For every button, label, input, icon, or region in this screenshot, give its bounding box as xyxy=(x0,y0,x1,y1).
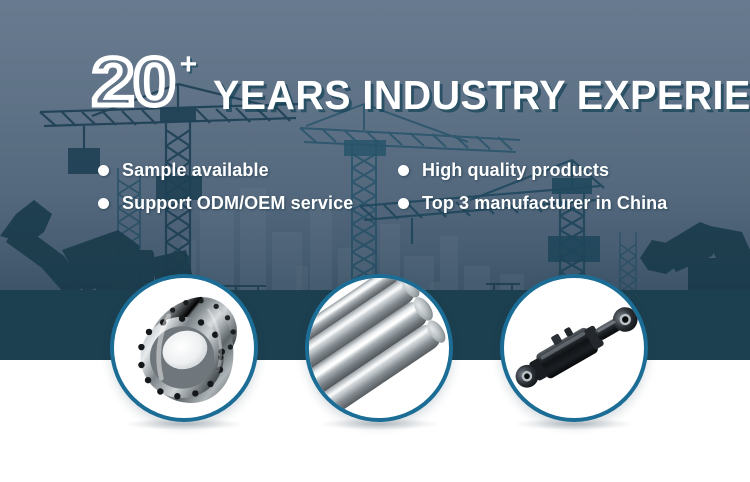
headline: 20 + YEARS INDUSTRY EXPERIENCE xyxy=(92,44,750,116)
steel-round-bars-icon xyxy=(309,278,449,418)
feature-item: Support ODM/OEM service xyxy=(98,193,398,214)
feature-item: Top 3 manufacturer in China xyxy=(398,193,698,214)
feature-item: High quality products xyxy=(398,160,698,181)
product-circle-hydraulic-cylinder[interactable] xyxy=(500,274,648,422)
years-number-group: 20 + xyxy=(92,48,197,116)
product-circle-steel-round-bars[interactable] xyxy=(305,274,453,422)
feature-list: Sample available Support ODM/OEM service… xyxy=(98,160,698,214)
dot-bullet-icon xyxy=(98,198,109,209)
feature-label: Sample available xyxy=(122,160,269,181)
feature-column-right: High quality products Top 3 manufacturer… xyxy=(398,160,698,214)
plus-superscript: + xyxy=(180,50,198,80)
headline-title: YEARS INDUSTRY EXPERIENCE xyxy=(213,75,750,116)
feature-item: Sample available xyxy=(98,160,398,181)
hydraulic-cylinder-icon xyxy=(504,278,644,418)
product-circle-row xyxy=(0,274,750,444)
flanged-steel-cylinder-icon xyxy=(114,278,254,418)
industry-experience-banner: 20 + YEARS INDUSTRY EXPERIENCE Sample av… xyxy=(0,0,750,482)
feature-label: High quality products xyxy=(422,160,609,181)
feature-label: Support ODM/OEM service xyxy=(122,193,353,214)
feature-column-left: Sample available Support ODM/OEM service xyxy=(98,160,398,214)
dot-bullet-icon xyxy=(398,165,409,176)
feature-label: Top 3 manufacturer in China xyxy=(422,193,667,214)
years-number: 20 xyxy=(92,48,179,116)
dot-bullet-icon xyxy=(398,198,409,209)
product-circle-flanged-steel-cylinder[interactable] xyxy=(110,274,258,422)
dot-bullet-icon xyxy=(98,165,109,176)
